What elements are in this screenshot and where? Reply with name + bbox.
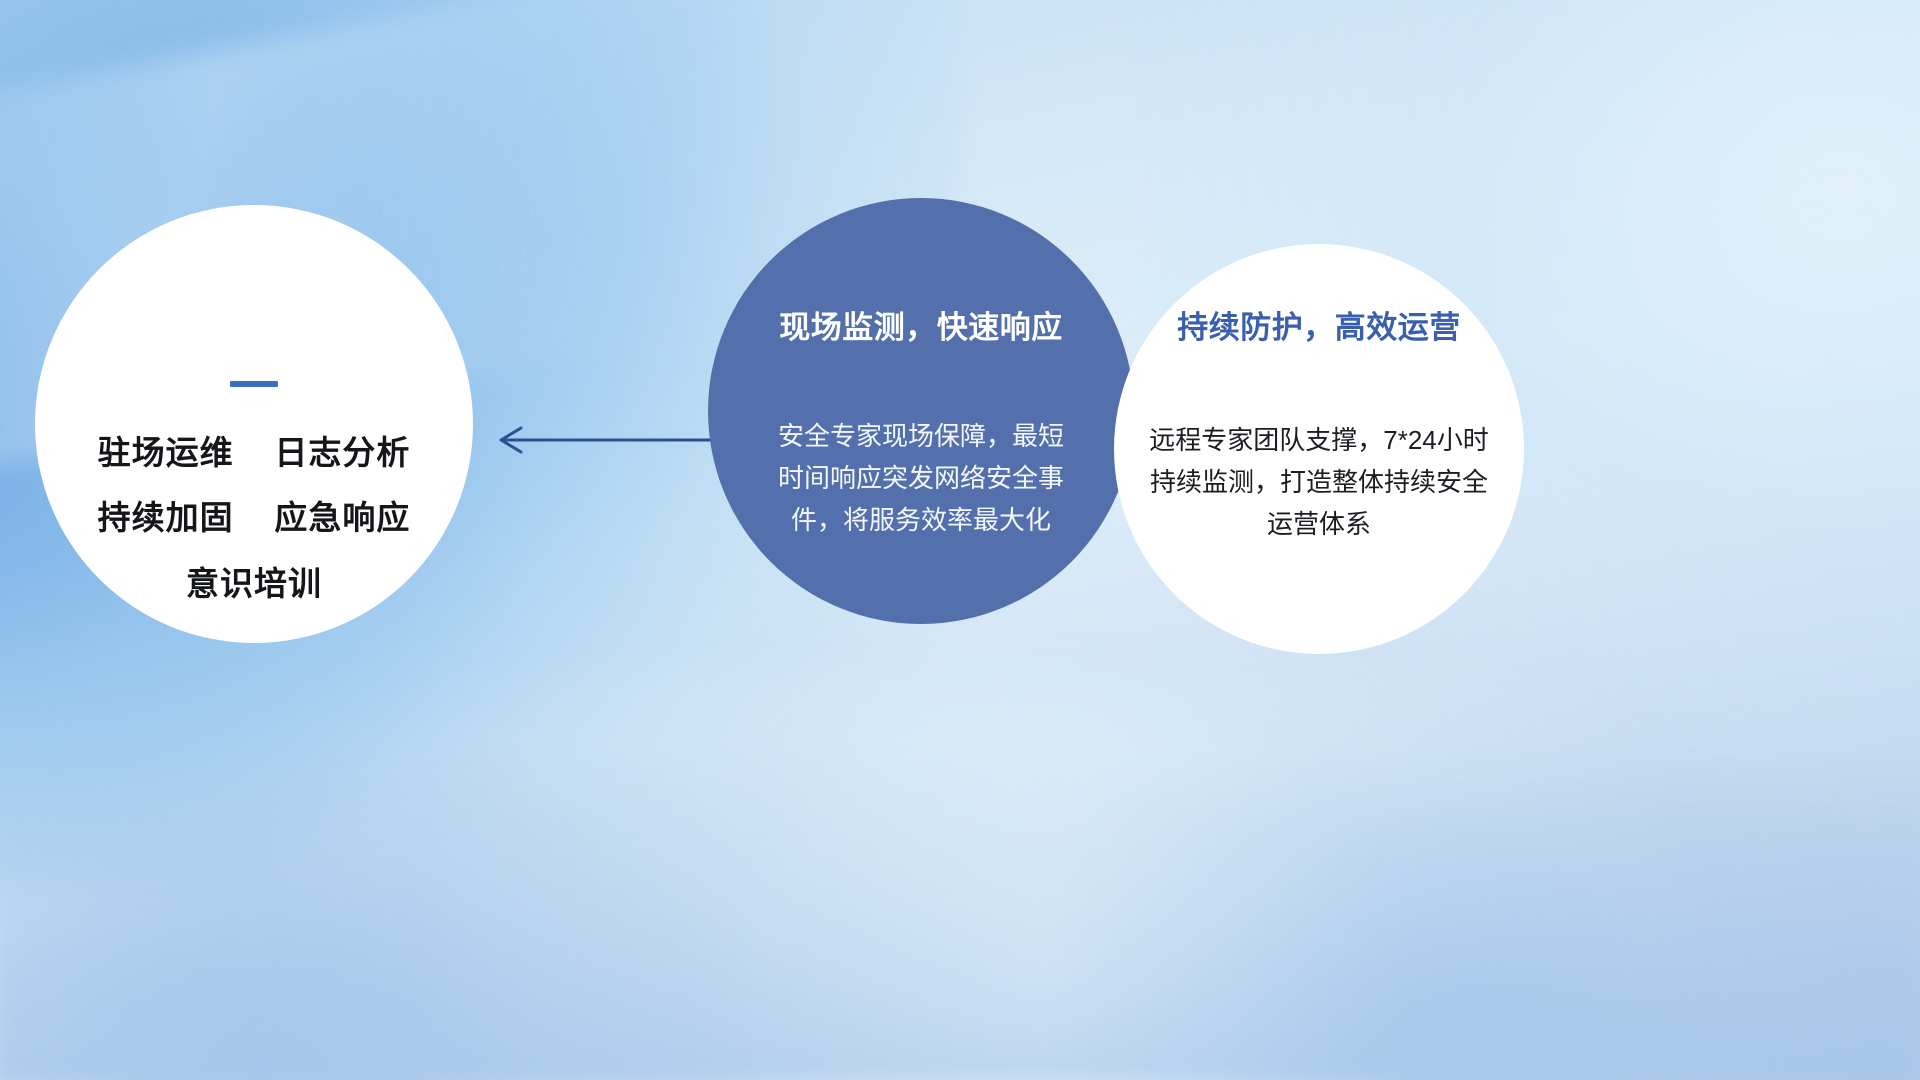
middle-onsite-monitoring-circle: 现场监测，快速响应 安全专家现场保障，最短时间响应突发网络安全事件，将服务效率最… xyxy=(708,198,1134,624)
middle-circle-body: 安全专家现场保障，最短时间响应突发网络安全事件，将服务效率最大化 xyxy=(771,415,1071,541)
left-circle-line-3: 意识培训 xyxy=(186,566,322,602)
left-circle-line-1: 驻场运维 日志分析 xyxy=(98,435,411,471)
right-circle-body: 远程专家团队支撑，7*24小时持续监测，打造整体持续安全运营体系 xyxy=(1138,419,1500,545)
right-circle-title: 持续防护，高效运营 xyxy=(1177,302,1461,347)
left-circle-line-2: 持续加固 应急响应 xyxy=(98,500,411,536)
dash-divider-icon xyxy=(230,381,278,387)
left-capability-circle: 驻场运维 日志分析 持续加固 应急响应 意识培训 xyxy=(35,205,473,643)
middle-circle-title: 现场监测，快速响应 xyxy=(779,302,1063,347)
right-continuous-protection-circle: 持续防护，高效运营 远程专家团队支撑，7*24小时持续监测，打造整体持续安全运营… xyxy=(1114,244,1524,654)
